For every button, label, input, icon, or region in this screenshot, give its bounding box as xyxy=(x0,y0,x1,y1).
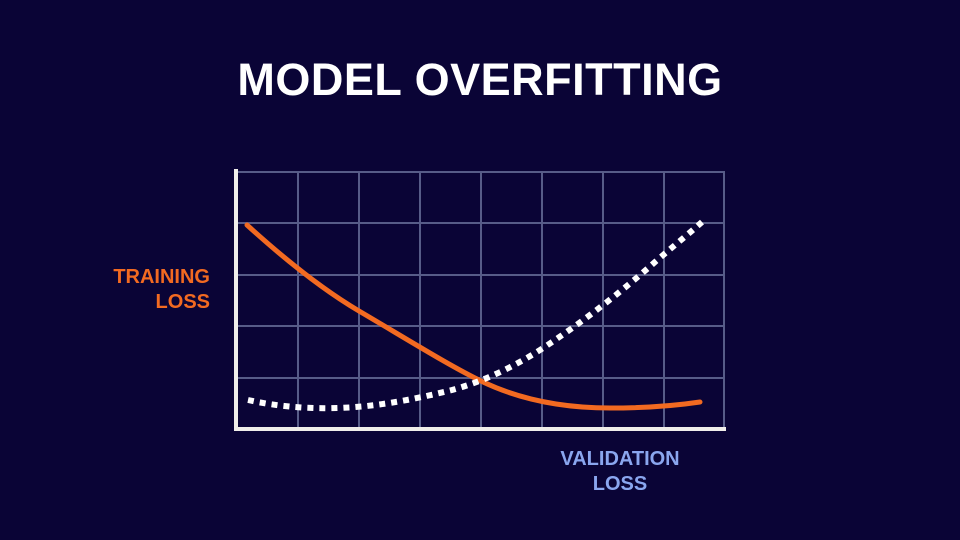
training-loss-label: TRAINING LOSS xyxy=(20,265,210,315)
validation-loss-label: VALIDATION LOSS xyxy=(490,447,750,497)
validation-loss-curve xyxy=(248,222,702,408)
grid-vertical-lines xyxy=(237,171,724,429)
slide-canvas: MODEL OVERFITTING xyxy=(0,0,960,540)
